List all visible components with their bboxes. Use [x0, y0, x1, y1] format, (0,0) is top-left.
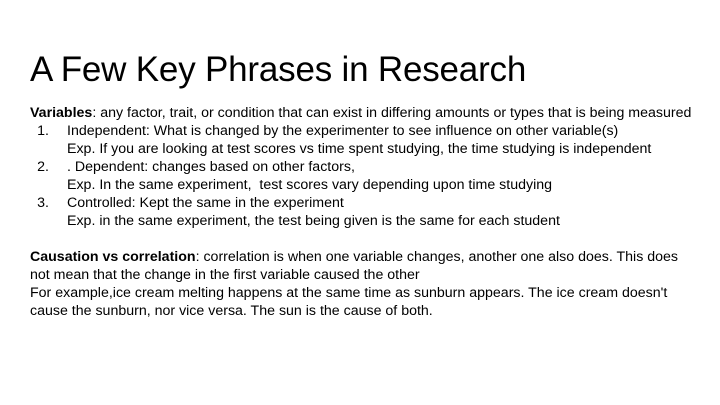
- list-marker: 2.: [30, 158, 49, 176]
- variables-term: Variables: [30, 105, 92, 121]
- slide-body: Variables: any factor, trait, or conditi…: [30, 104, 692, 320]
- list-item-example: Exp. If you are looking at test scores v…: [67, 140, 692, 158]
- list-item: 3. Controlled: Kept the same in the expe…: [30, 194, 692, 230]
- variables-paragraph: Variables: any factor, trait, or conditi…: [30, 104, 692, 122]
- list-item-text: Controlled: Kept the same in the experim…: [67, 194, 692, 212]
- variables-definition: : any factor, trait, or condition that c…: [92, 105, 691, 121]
- variable-types-list: 1. Independent: What is changed by the e…: [30, 122, 692, 230]
- list-marker: 3.: [30, 194, 49, 212]
- slide-canvas: A Few Key Phrases in Research Variables:…: [0, 0, 720, 405]
- page-title: A Few Key Phrases in Research: [30, 49, 690, 91]
- list-item-example: Exp. in the same experiment, the test be…: [67, 212, 692, 230]
- paragraph-spacer: [30, 230, 692, 248]
- causation-paragraph: Causation vs correlation: correlation is…: [30, 248, 692, 284]
- list-item-example: Exp. In the same experiment, test scores…: [67, 176, 692, 194]
- list-item-text: Independent: What is changed by the expe…: [67, 122, 692, 140]
- list-item: 1. Independent: What is changed by the e…: [30, 122, 692, 158]
- list-item-text: . Dependent: changes based on other fact…: [67, 158, 692, 176]
- causation-example: For example,ice cream melting happens at…: [30, 284, 692, 320]
- list-item: 2. . Dependent: changes based on other f…: [30, 158, 692, 194]
- causation-term: Causation vs correlation: [30, 249, 196, 265]
- list-marker: 1.: [30, 122, 49, 140]
